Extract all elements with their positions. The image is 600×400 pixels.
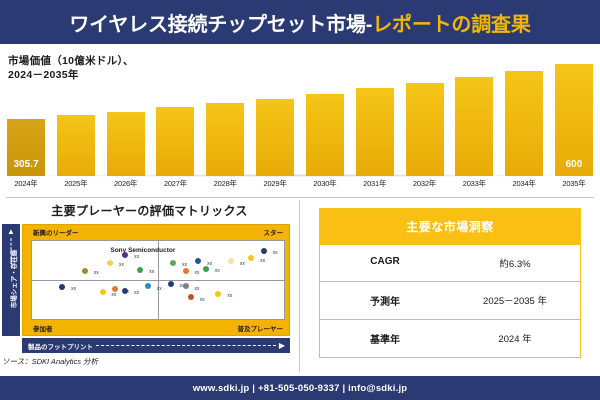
insights-table-body: CAGR約6.3%予測年2025－2035 年基準年2024 年 [320,244,580,357]
page-title-main: ワイヤレス接続チップセット市場- [69,14,372,36]
x-axis-dashed-line [96,345,276,346]
matrix-data-point-label: xx [157,286,162,292]
x-axis-tick-label: 2024年 [6,178,46,194]
insights-row-value: 2025－2035 年 [450,282,580,319]
matrix-frame: 新興のリーダー スター 参加者 普及プレーヤー Sony Semiconduct… [22,224,290,336]
bar: 305.7 [7,119,45,176]
matrix-data-point [112,286,118,292]
bar-column [106,56,146,176]
insights-table-row: 基準年2024 年 [320,319,580,357]
chart-x-axis: 2024年2025年2026年2027年2028年2029年2030年2031年… [6,178,594,194]
bar-column [504,56,544,176]
key-market-insights-panel: 主要な市場洞察 CAGR約6.3%予測年2025－2035 年基準年2024 年 [299,198,600,376]
bar-value-label: 305.7 [7,159,45,170]
matrix-data-point-label: xx [227,293,232,299]
matrix-data-point-label: xx [119,262,124,268]
bar [256,99,294,176]
matrix-data-point-label: xx [149,269,154,275]
matrix-data-point [183,283,189,289]
footer-contact-text: www.sdki.jp | +81-505-050-9337 | info@sd… [193,383,408,394]
bottom-row: 主要プレーヤーの評価マトリックス ▲ 市場シェア・存在感 新興のリーダー スター… [0,198,600,376]
insights-table: 主要な市場洞察 CAGR約6.3%予測年2025－2035 年基準年2024 年 [319,208,581,358]
x-axis-tick-label: 2027年 [155,178,195,194]
matrix-data-point [59,284,65,290]
source-note: ソース：SDKI Analytics 分析 [2,356,98,367]
insights-row-key: 基準年 [320,320,450,357]
quadrant-label-participant: 参加者 [33,323,53,333]
bar-column [56,56,96,176]
x-axis-tick-label: 2034年 [504,178,544,194]
bar [306,94,344,176]
matrix-plot-area: Sony Semiconductor xxxxxxxxxxxxxxxxxxxxx… [31,240,285,320]
x-axis-tick-label: 2029年 [255,178,295,194]
matrix-y-axis: ▲ 市場シェア・存在感 [2,224,20,336]
matrix-data-point [203,266,209,272]
footer-bar: www.sdki.jp | +81-505-050-9337 | info@sd… [0,376,600,400]
x-axis-tick-label: 2025年 [56,178,96,194]
insights-table-header: 主要な市場洞察 [320,209,580,244]
bar [107,112,145,176]
matrix-data-point [215,291,221,297]
bar [455,77,493,176]
bar-column [155,56,195,176]
quadrant-label-pervasive-player: 普及プレーヤー [238,323,284,333]
matrix-data-point-label: xx [111,292,116,298]
matrix-data-point-label: xx [215,268,220,274]
bar: 600 [555,64,593,176]
matrix-data-point-label: xx [240,261,245,267]
bar [406,83,444,176]
matrix-data-point [137,267,143,273]
matrix-data-point [100,289,106,295]
matrix-data-point [145,283,151,289]
matrix-data-point [122,288,128,294]
bar-column [205,56,245,176]
matrix-data-point-label: xx [200,297,205,303]
insights-row-key: 予測年 [320,282,450,319]
matrix-data-point-label: xx [195,270,200,276]
bar-column: 600 [554,56,594,176]
bar [57,115,95,176]
matrix-data-point [122,252,128,258]
quadrant-horizontal-line [32,280,284,281]
insights-row-value: 約6.3% [450,245,580,281]
page-title: ワイヤレス接続チップセット市場-レポートの調査果 [69,8,530,37]
matrix-data-point [228,258,234,264]
x-axis-tick-label: 2031年 [355,178,395,194]
insights-table-row: CAGR約6.3% [320,244,580,281]
matrix-data-point-label: xx [134,290,139,296]
x-axis-tick-label: 2033年 [454,178,494,194]
matrix-y-axis-label: 市場シェア・存在感 [8,231,18,327]
x-axis-tick-label: 2032年 [405,178,445,194]
player-evaluation-matrix: 主要プレーヤーの評価マトリックス ▲ 市場シェア・存在感 新興のリーダー スター… [0,198,299,376]
x-axis-tick-label: 2030年 [305,178,345,194]
bar [156,107,194,176]
x-axis-tick-label: 2035年 [554,178,594,194]
quadrant-label-star: スター [264,227,284,237]
matrix-data-point-label: xx [260,258,265,264]
bar [206,103,244,176]
matrix-data-point [188,294,194,300]
matrix-data-point-label: xx [71,286,76,292]
chart-bars: 305.7600 [6,56,594,176]
right-arrow-icon: ▶ [279,342,285,350]
matrix-data-point [248,255,254,261]
x-axis-tick-label: 2026年 [106,178,146,194]
bar [505,71,543,176]
bar-value-label: 600 [555,159,593,170]
matrix-data-point [170,260,176,266]
bar-column: 305.7 [6,56,46,176]
matrix-data-point-label: xx [273,250,278,256]
title-bar: ワイヤレス接続チップセット市場-レポートの調査果 [0,0,600,44]
bar [356,88,394,176]
bar-column [355,56,395,176]
bar-column [454,56,494,176]
highlight-company-label: Sony Semiconductor [110,247,175,254]
insights-row-key: CAGR [320,245,450,281]
matrix-data-point-label: xx [94,270,99,276]
quadrant-label-emerging-leader: 新興のリーダー [33,227,79,237]
matrix-x-axis: 製品のフットプリント ▶ [22,338,290,353]
matrix-data-point [183,268,189,274]
matrix-data-point [168,281,174,287]
page-title-accent: レポートの調査果 [372,14,530,36]
matrix-data-point-label: xx [134,254,139,260]
matrix-title: 主要プレーヤーの評価マトリックス [0,202,299,219]
market-value-bar-chart: 市場価値（10億米ドル）、 2024－2035年 305.7600 2024年2… [0,44,600,196]
bar-column [405,56,445,176]
insights-table-row: 予測年2025－2035 年 [320,281,580,319]
matrix-x-axis-label: 製品のフットプリント [28,341,93,351]
matrix-data-point [82,268,88,274]
bar-column [255,56,295,176]
insights-row-value: 2024 年 [450,320,580,357]
matrix-data-point [261,248,267,254]
matrix-data-point [195,258,201,264]
matrix-data-point-label: xx [195,286,200,292]
matrix-data-point-label: xx [207,261,212,267]
bar-column [305,56,345,176]
matrix-data-point [107,260,113,266]
x-axis-tick-label: 2028年 [205,178,245,194]
